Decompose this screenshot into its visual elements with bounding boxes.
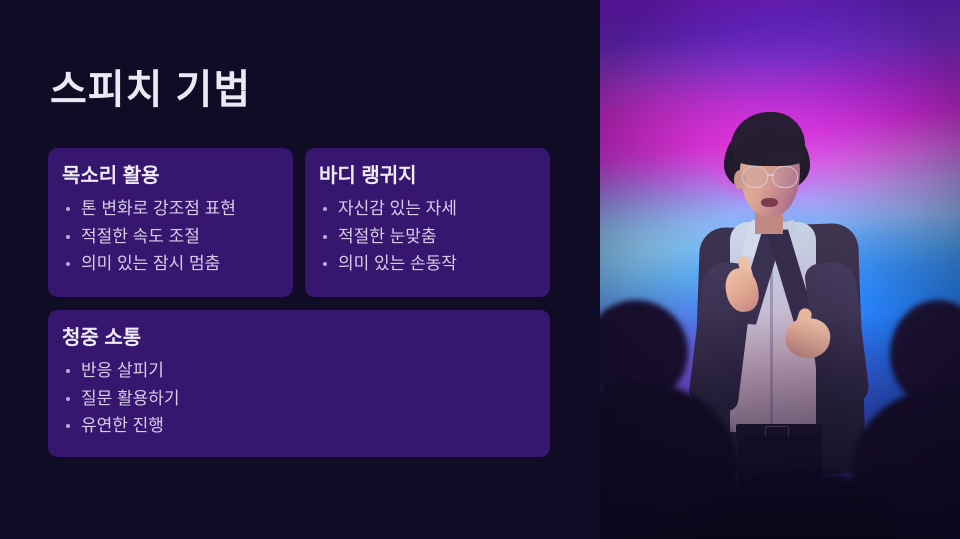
page-title: 스피치 기법: [50, 68, 251, 112]
list-item: 의미 있는 손동작: [319, 250, 536, 278]
list-item: 의미 있는 잠시 멈춤: [62, 250, 279, 278]
slide-root: 스피치 기법 목소리 활용 톤 변화로 강조점 표현 적절한 속도 조절 의미 …: [0, 0, 960, 539]
card-audience-bullets: 반응 살피기 질문 활용하기 유연한 진행: [62, 357, 536, 440]
card-body-language-bullets: 자신감 있는 자세 적절한 눈맞춤 의미 있는 손동작: [319, 195, 536, 278]
list-item: 질문 활용하기: [62, 385, 536, 413]
card-voice: 목소리 활용 톤 변화로 강조점 표현 적절한 속도 조절 의미 있는 잠시 멈…: [48, 148, 293, 297]
card-voice-bullets: 톤 변화로 강조점 표현 적절한 속도 조절 의미 있는 잠시 멈춤: [62, 195, 279, 278]
card-body-language: 바디 랭귀지 자신감 있는 자세 적절한 눈맞춤 의미 있는 손동작: [305, 148, 550, 297]
list-item: 톤 변화로 강조점 표현: [62, 195, 279, 223]
list-item: 유연한 진행: [62, 412, 536, 440]
card-body-language-heading: 바디 랭귀지: [319, 164, 536, 189]
card-audience-heading: 청중 소통: [62, 326, 536, 351]
list-item: 반응 살피기: [62, 357, 536, 385]
list-item: 적절한 속도 조절: [62, 223, 279, 251]
content-panel: 스피치 기법 목소리 활용 톤 변화로 강조점 표현 적절한 속도 조절 의미 …: [0, 0, 600, 539]
card-row-top: 목소리 활용 톤 변화로 강조점 표현 적절한 속도 조절 의미 있는 잠시 멈…: [48, 148, 550, 297]
photo-vignette: [600, 0, 960, 539]
card-audience: 청중 소통 반응 살피기 질문 활용하기 유연한 진행: [48, 310, 550, 457]
presenter-photo: [600, 0, 960, 539]
list-item: 적절한 눈맞춤: [319, 223, 536, 251]
card-voice-heading: 목소리 활용: [62, 164, 279, 189]
list-item: 자신감 있는 자세: [319, 195, 536, 223]
